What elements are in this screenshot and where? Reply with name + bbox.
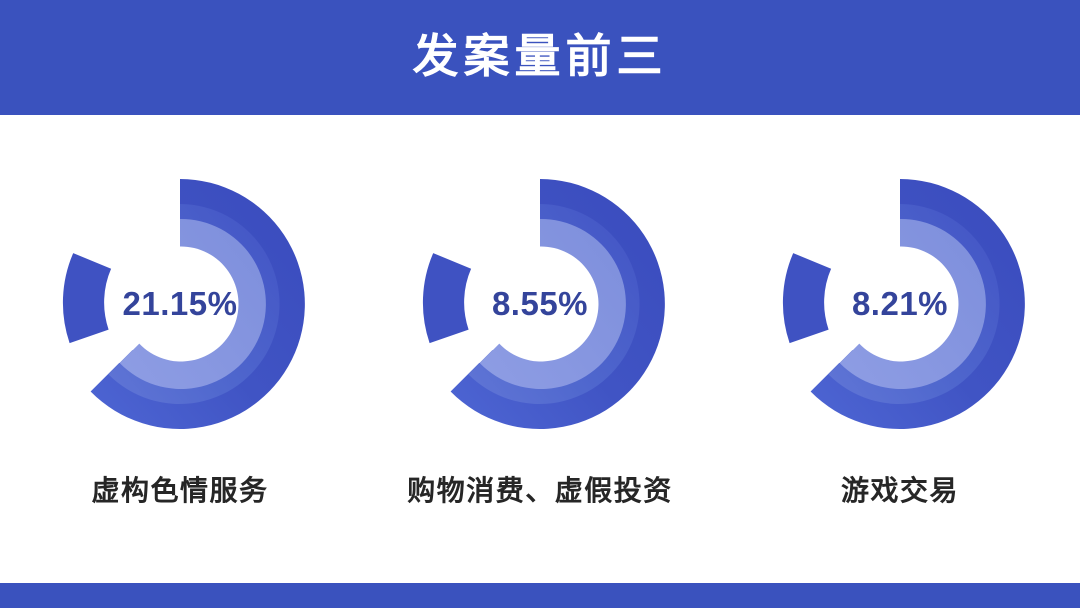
donut-chart-label-2: 购物消费、虚假投资 bbox=[407, 469, 673, 509]
donut-chart-label-3: 游戏交易 bbox=[841, 469, 959, 509]
top-banner: 发案量前三 bbox=[0, 0, 1080, 115]
donut-charts-row: 21.15% 虚构色情服务 bbox=[0, 115, 1080, 583]
donut-chart-1: 21.15% bbox=[49, 173, 311, 435]
donut-chart-label-1: 虚构色情服务 bbox=[91, 469, 268, 509]
donut-rings-svg-1 bbox=[49, 173, 311, 435]
donut-rings-svg-3 bbox=[769, 173, 1031, 435]
donut-rings-svg-2 bbox=[409, 173, 671, 435]
donut-chart-3: 8.21% bbox=[769, 173, 1031, 435]
bottom-accent-band bbox=[0, 583, 1080, 608]
outer-ring-detached-segment bbox=[783, 253, 831, 343]
donut-chart-card-3: 8.21% 游戏交易 bbox=[730, 115, 1070, 509]
donut-chart-2: 8.55% bbox=[409, 173, 671, 435]
outer-ring-detached-segment bbox=[423, 253, 471, 343]
outer-ring-detached-segment bbox=[63, 253, 111, 343]
chart-stage: 21.15% 虚构色情服务 bbox=[0, 115, 1080, 583]
page-title: 发案量前三 bbox=[413, 33, 668, 83]
donut-chart-card-1: 21.15% 虚构色情服务 bbox=[10, 115, 350, 509]
donut-chart-card-2: 8.55% 购物消费、虚假投资 bbox=[370, 115, 710, 509]
